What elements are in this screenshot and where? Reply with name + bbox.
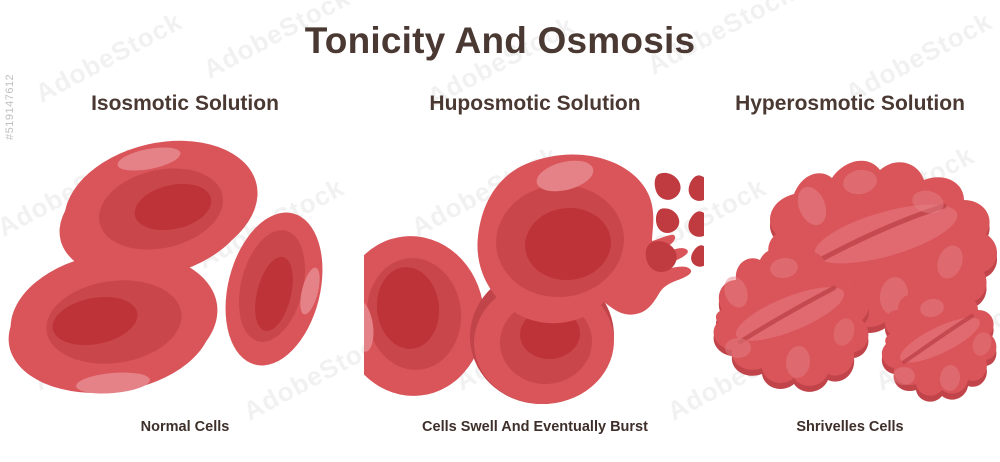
panel-caption-huposmotic: Cells Swell And Eventually Burst bbox=[422, 420, 648, 435]
illustration-poster: AdobeStock AdobeStock AdobeStock AdobeSt… bbox=[0, 0, 1000, 462]
illustration-swelling-cells bbox=[370, 114, 700, 420]
panel-heading-hyperosmotic: Hyperosmotic Solution bbox=[735, 93, 965, 114]
red-blood-cell-swollen bbox=[364, 229, 492, 403]
shriveled-cells-svg bbox=[698, 136, 1000, 406]
panel-hyperosmotic: Hyperosmotic Solution bbox=[700, 86, 1000, 456]
panel-heading-isosmotic: Isosmotic Solution bbox=[91, 93, 279, 114]
panel-caption-hyperosmotic: Shrivelles Cells bbox=[796, 420, 903, 435]
panel-huposmotic: Huposmotic Solution bbox=[370, 86, 700, 456]
panel-row: Isosmotic Solution bbox=[0, 86, 1000, 456]
swelling-cells-svg bbox=[364, 136, 704, 406]
red-blood-cell-crenated bbox=[714, 248, 869, 392]
page-title: Tonicity And Osmosis bbox=[0, 20, 1000, 62]
illustration-normal-cells bbox=[0, 114, 370, 420]
illustration-shriveled-cells bbox=[700, 114, 1000, 420]
red-blood-cell-crenated bbox=[882, 289, 997, 402]
panel-heading-huposmotic: Huposmotic Solution bbox=[429, 93, 640, 114]
normal-cells-svg bbox=[6, 134, 346, 404]
panel-caption-isosmotic: Normal Cells bbox=[141, 420, 230, 435]
droplet bbox=[651, 169, 683, 203]
panel-isosmotic: Isosmotic Solution bbox=[0, 86, 370, 456]
droplet bbox=[654, 206, 680, 234]
